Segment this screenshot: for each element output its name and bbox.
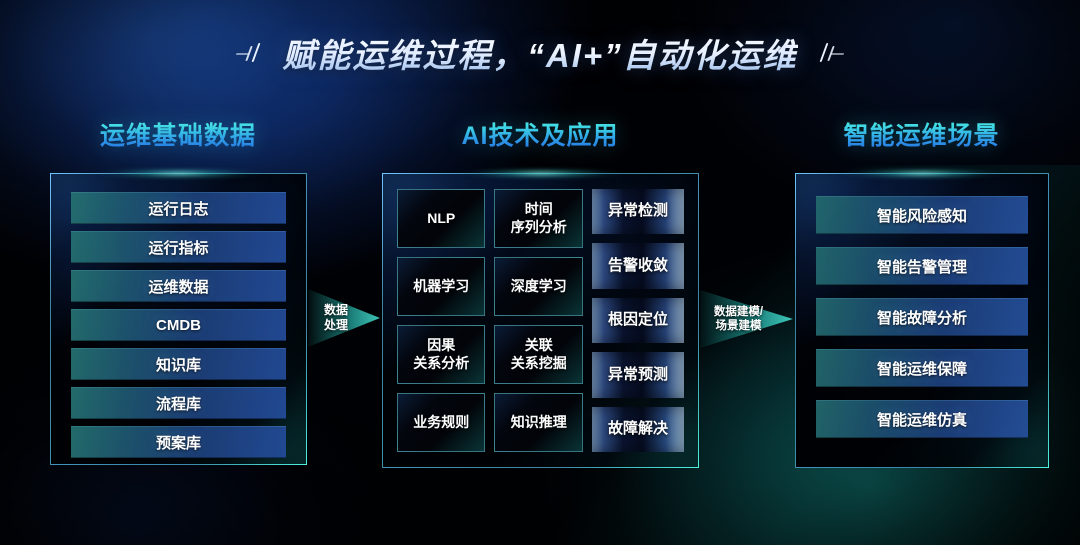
connector-label-line1: 数据建模/	[714, 305, 763, 319]
connector-label: 数据建模/ 场景建模	[700, 290, 793, 348]
scenario-list: 智能风险感知 智能告警管理 智能故障分析 智能运维保障 智能运维仿真	[816, 196, 1028, 438]
connector-label: 数据 处理	[308, 289, 380, 347]
tech-cell[interactable]: 业务规则	[397, 393, 485, 452]
tech-cell-line2: 关系挖掘	[511, 355, 567, 373]
application-cell[interactable]: 故障解决	[592, 407, 684, 452]
ai-tech-column-b: 时间 序列分析 深度学习 关联 关系挖掘 知识推理	[494, 189, 582, 452]
list-item[interactable]: CMDB	[71, 309, 286, 341]
connector-arrow-modeling: 数据建模/ 场景建模	[700, 290, 793, 348]
connector-label-line2: 场景建模	[716, 319, 762, 333]
list-item[interactable]: 智能运维保障	[816, 349, 1028, 387]
list-item[interactable]: 智能风险感知	[816, 196, 1028, 234]
tech-cell-line1: 因果	[427, 337, 455, 355]
application-cell[interactable]: 异常预测	[592, 352, 684, 397]
panel-edge-right	[306, 320, 307, 465]
tech-cell-line1: 业务规则	[413, 414, 469, 432]
ai-tech-grid: NLP 机器学习 因果 关系分析 业务规则 时间 序列分析	[397, 189, 684, 452]
tech-cell-line2: 关系分析	[413, 355, 469, 373]
application-cell[interactable]: 告警收敛	[592, 243, 684, 288]
list-item[interactable]: 运行日志	[71, 192, 286, 224]
list-item[interactable]: 智能运维仿真	[816, 400, 1028, 438]
panel-edge-left	[795, 173, 796, 308]
panel-top-glow	[431, 167, 651, 180]
column-heading-left: 运维基础数据	[50, 117, 306, 151]
tech-cell-line1: 深度学习	[511, 278, 567, 296]
application-cell[interactable]: 根因定位	[592, 298, 684, 343]
slide-title-row: 赋能运维过程，“AI+”自动化运维	[0, 26, 1080, 80]
list-item[interactable]: 流程库	[71, 387, 286, 419]
connector-label-line2: 处理	[324, 318, 348, 333]
title-decoration-left-icon	[234, 40, 268, 66]
panel-top-glow	[812, 167, 1032, 180]
tech-cell[interactable]: 知识推理	[494, 393, 582, 452]
tech-cell-line1: 知识推理	[511, 414, 567, 432]
connector-label-line1: 数据	[324, 303, 348, 318]
tech-cell[interactable]: 深度学习	[494, 257, 582, 316]
panel-ai-tech: NLP 机器学习 因果 关系分析 业务规则 时间 序列分析	[382, 173, 699, 468]
page-title: 赋能运维过程，“AI+”自动化运维	[282, 29, 797, 77]
column-heading-middle: AI技术及应用	[382, 117, 698, 151]
tech-cell-line1: NLP	[427, 210, 455, 228]
tech-cell[interactable]: 时间 序列分析	[494, 189, 582, 248]
panel-edge-right	[698, 322, 699, 469]
list-item[interactable]: 运维数据	[71, 270, 286, 302]
tech-cell-line1: 关联	[525, 337, 553, 355]
list-item[interactable]: 智能故障分析	[816, 298, 1028, 336]
title-decoration-right-icon	[812, 40, 846, 66]
tech-cell-line1: 时间	[525, 201, 553, 219]
tech-cell[interactable]: 关联 关系挖掘	[494, 325, 582, 384]
list-item[interactable]: 知识库	[71, 348, 286, 380]
panel-edge-right	[1048, 322, 1049, 469]
panel-edge-left	[382, 173, 383, 308]
tech-cell-line1: 机器学习	[413, 278, 469, 296]
ai-application-column: 异常检测 告警收敛 根因定位 异常预测 故障解决	[592, 189, 684, 452]
connector-arrow-data-processing: 数据 处理	[308, 289, 380, 347]
application-cell[interactable]: 异常检测	[592, 189, 684, 234]
base-data-list: 运行日志 运行指标 运维数据 CMDB 知识库 流程库 预案库	[71, 192, 286, 458]
column-heading-right: 智能运维场景	[795, 117, 1048, 151]
panel-top-glow	[69, 167, 289, 180]
panel-aiops-scenarios: 智能风险感知 智能告警管理 智能故障分析 智能运维保障 智能运维仿真	[795, 173, 1049, 468]
panel-edge-left	[50, 173, 51, 306]
list-item[interactable]: 预案库	[71, 426, 286, 458]
tech-cell-line2: 序列分析	[511, 219, 567, 237]
tech-cell[interactable]: 因果 关系分析	[397, 325, 485, 384]
ai-tech-column-a: NLP 机器学习 因果 关系分析 业务规则	[397, 189, 485, 452]
tech-cell[interactable]: NLP	[397, 189, 485, 248]
list-item[interactable]: 智能告警管理	[816, 247, 1028, 285]
slide-canvas: 赋能运维过程，“AI+”自动化运维 运维基础数据 AI技术及应用 智能运维场景 …	[0, 0, 1080, 545]
tech-cell[interactable]: 机器学习	[397, 257, 485, 316]
panel-base-data: 运行日志 运行指标 运维数据 CMDB 知识库 流程库 预案库	[50, 173, 307, 465]
list-item[interactable]: 运行指标	[71, 231, 286, 263]
